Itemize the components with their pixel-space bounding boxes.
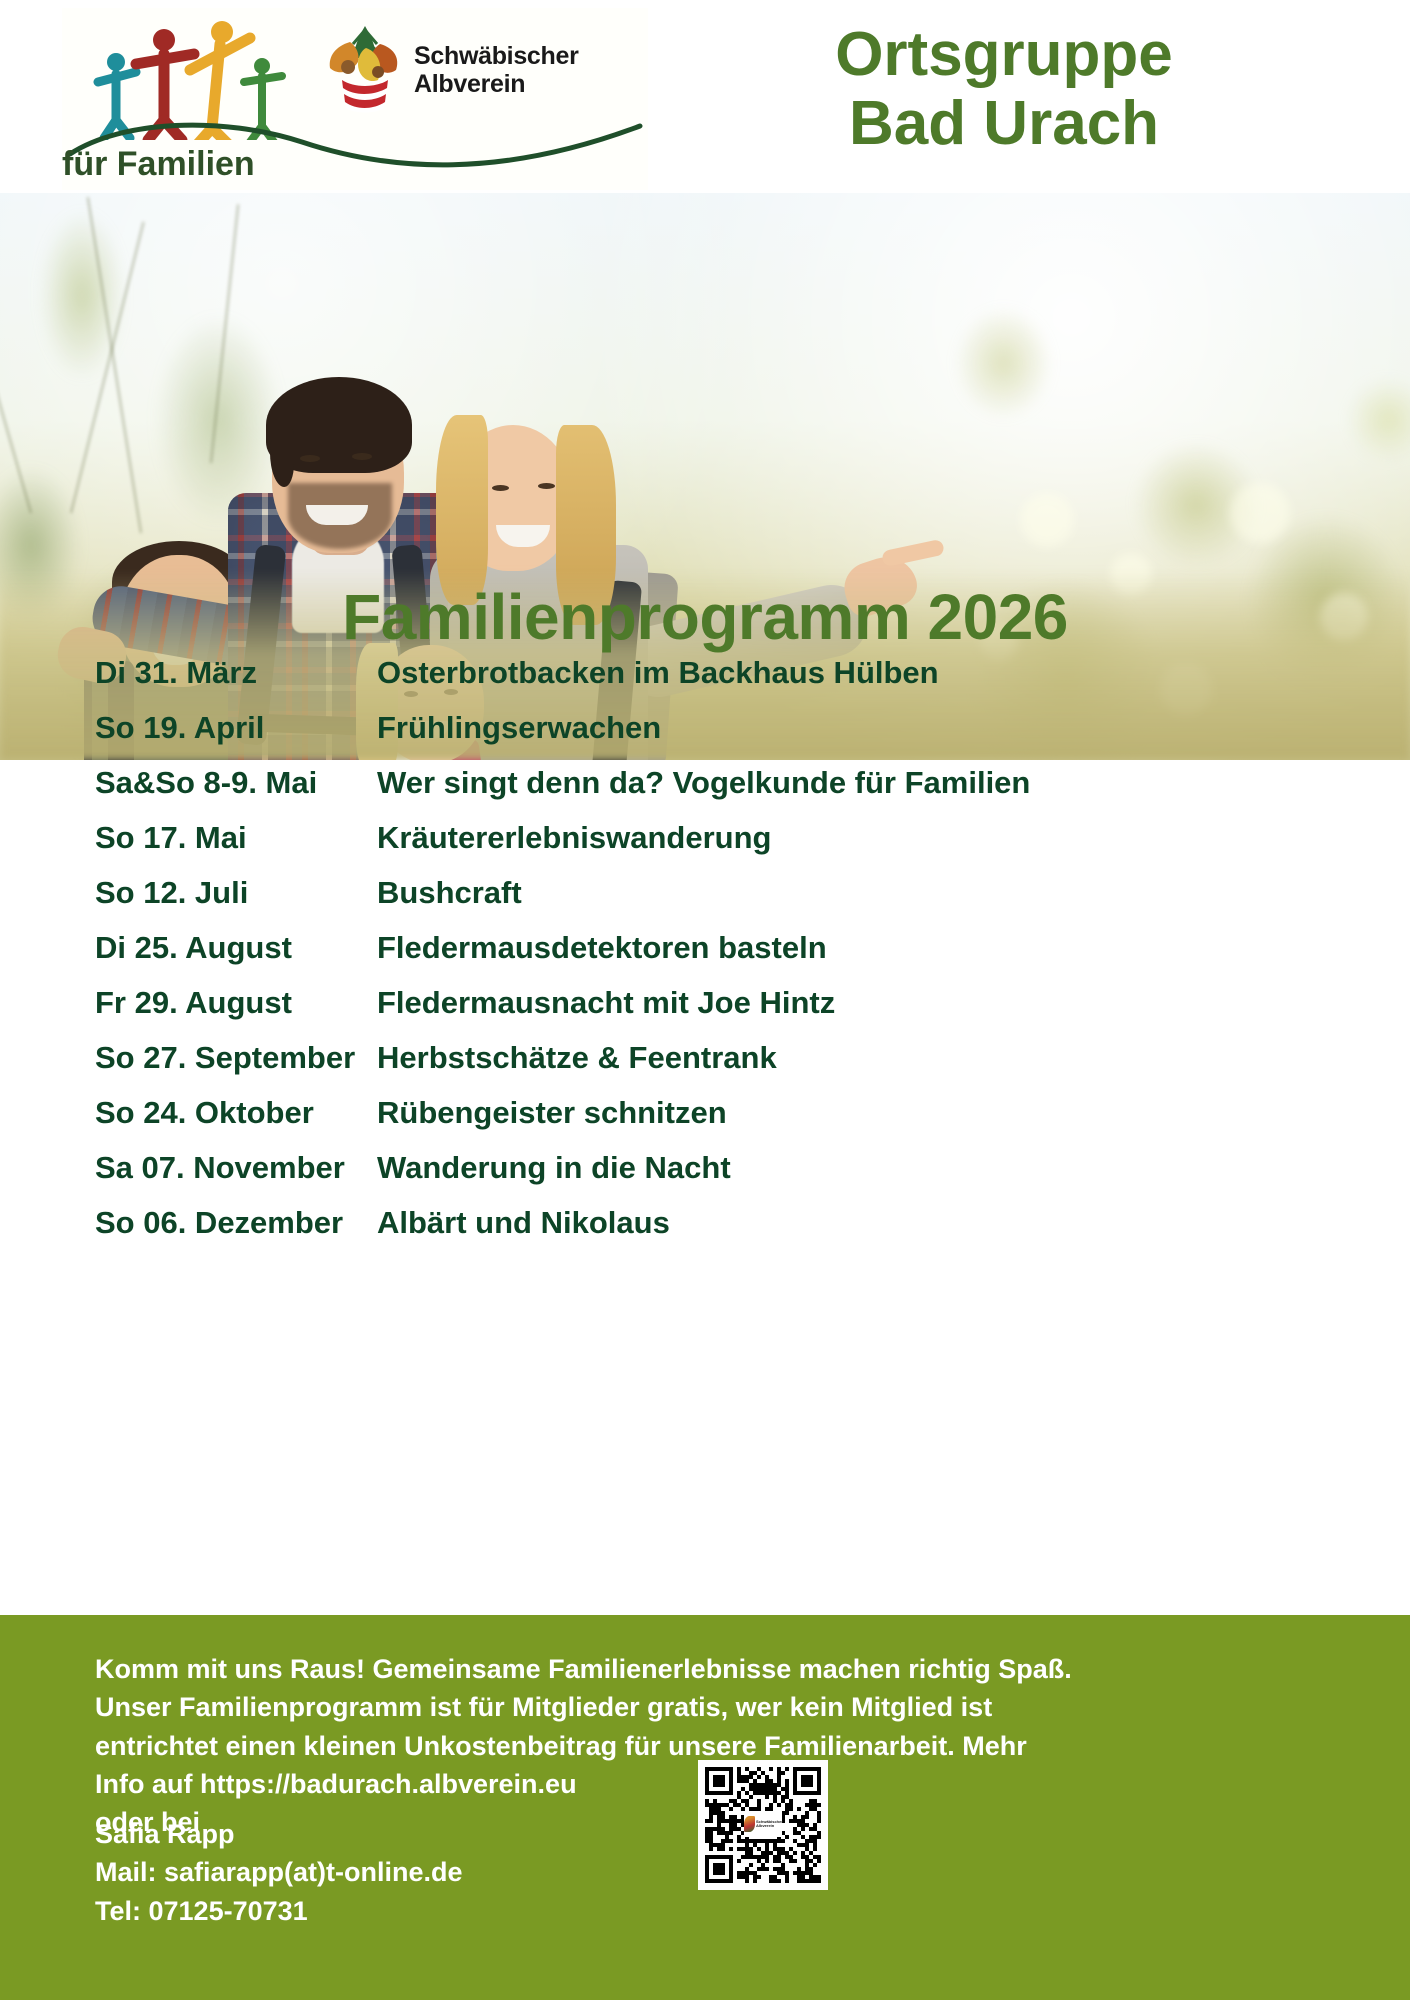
program-row-title: Herbstschätze & Feentrank xyxy=(377,1040,1355,1076)
brand-name: Schwäbischer Albverein xyxy=(414,42,579,98)
poster-root: Schwäbischer Albverein für Familien Orts… xyxy=(0,0,1410,2000)
contact-email[interactable]: Mail: safiarapp(at)t-online.de xyxy=(95,1853,463,1891)
qr-logo-text: Schwäbischer Albverein xyxy=(756,1820,783,1829)
albverein-leaves-emblem-icon xyxy=(320,22,410,118)
program-row: Sa 07. NovemberWanderung in die Nacht xyxy=(95,1150,1355,1205)
photo-bokeh xyxy=(1230,483,1290,543)
qr-center-logo: Schwäbischer Albverein xyxy=(744,1811,782,1837)
program-row: So 06. DezemberAlbärt und Nikolaus xyxy=(95,1205,1355,1260)
program-row-date: Di 25. August xyxy=(95,930,377,966)
program-row-date: So 24. Oktober xyxy=(95,1095,377,1131)
photo-figure-mom-eye xyxy=(538,483,555,489)
program-list: Di 31. MärzOsterbrotbacken im Backhaus H… xyxy=(95,655,1355,1260)
program-row-title: Wer singt denn da? Vogelkunde für Famili… xyxy=(377,765,1355,801)
logo-tagline: für Familien xyxy=(62,145,255,184)
albverein-leaves-emblem-icon xyxy=(744,1816,755,1832)
footer-website-line[interactable]: Info auf https://badurach.albverein.eu xyxy=(95,1765,1285,1803)
program-row-title: Osterbrotbacken im Backhaus Hülben xyxy=(377,655,1355,691)
footer-intro-line1: Komm mit uns Raus! Gemeinsame Familiener… xyxy=(95,1650,1285,1688)
qr-code[interactable]: Schwäbischer Albverein xyxy=(698,1760,828,1890)
program-row-date: Sa&So 8-9. Mai xyxy=(95,765,377,801)
photo-figure-dad-eye xyxy=(352,453,372,460)
brand-name-line1: Schwäbischer xyxy=(414,42,579,70)
program-row: So 24. OktoberRübengeister schnitzen xyxy=(95,1095,1355,1150)
program-row-title: Wanderung in die Nacht xyxy=(377,1150,1355,1186)
program-row-title: Fledermausdetektoren basteln xyxy=(377,930,1355,966)
program-row: So 12. JuliBushcraft xyxy=(95,875,1355,930)
program-row-date: So 17. Mai xyxy=(95,820,377,856)
footer-intro-text: Komm mit uns Raus! Gemeinsame Familiener… xyxy=(95,1650,1285,1842)
program-row-title: Kräutererlebniswanderung xyxy=(377,820,1355,856)
contact-phone[interactable]: Tel: 07125-70731 xyxy=(95,1892,463,1930)
photo-figure-mom-eye xyxy=(492,485,509,491)
program-row-date: Sa 07. November xyxy=(95,1150,377,1186)
footer-intro-line2: Unser Familienprogramm ist für Mitgliede… xyxy=(95,1688,1285,1726)
program-row-date: So 06. Dezember xyxy=(95,1205,377,1241)
contact-name: Safia Rapp xyxy=(95,1815,463,1853)
program-row: So 17. MaiKräutererlebniswanderung xyxy=(95,820,1355,875)
ortsgruppe-title: Ortsgruppe Bad Urach xyxy=(654,20,1354,159)
program-row-date: So 19. April xyxy=(95,710,377,746)
qr-code-matrix: Schwäbischer Albverein xyxy=(705,1767,821,1883)
program-row-title: Albärt und Nikolaus xyxy=(377,1205,1355,1241)
program-row-date: Di 31. März xyxy=(95,655,377,691)
program-row-date: Fr 29. August xyxy=(95,985,377,1021)
program-row-date: So 12. Juli xyxy=(95,875,377,911)
program-row-date: So 27. September xyxy=(95,1040,377,1076)
program-row: Sa&So 8-9. MaiWer singt denn da? Vogelku… xyxy=(95,765,1355,820)
photo-figure-dad-hair xyxy=(266,377,412,473)
footer-contact-block: Safia Rapp Mail: safiarapp(at)t-online.d… xyxy=(95,1815,463,1930)
page-title: Familienprogramm 2026 xyxy=(0,580,1410,654)
qr-logo-line2: Albverein xyxy=(756,1824,783,1828)
ortsgruppe-line2: Bad Urach xyxy=(654,89,1354,158)
ortsgruppe-line1: Ortsgruppe xyxy=(654,20,1354,89)
program-row: So 19. AprilFrühlingserwachen xyxy=(95,710,1355,765)
brand-name-line2: Albverein xyxy=(414,70,579,98)
program-row: Fr 29. AugustFledermausnacht mit Joe Hin… xyxy=(95,985,1355,1040)
program-row: Di 31. MärzOsterbrotbacken im Backhaus H… xyxy=(95,655,1355,710)
program-row-title: Bushcraft xyxy=(377,875,1355,911)
photo-figure-dad-eye xyxy=(300,455,320,462)
program-row-title: Fledermausnacht mit Joe Hintz xyxy=(377,985,1355,1021)
program-row: Di 25. AugustFledermausdetektoren bastel… xyxy=(95,930,1355,985)
program-row-title: Frühlingserwachen xyxy=(377,710,1355,746)
program-row-title: Rübengeister schnitzen xyxy=(377,1095,1355,1131)
footer-intro-line3: entrichtet einen kleinen Unkostenbeitrag… xyxy=(95,1727,1285,1765)
program-row: So 27. SeptemberHerbstschätze & Feentran… xyxy=(95,1040,1355,1095)
photo-bokeh xyxy=(1020,493,1074,547)
